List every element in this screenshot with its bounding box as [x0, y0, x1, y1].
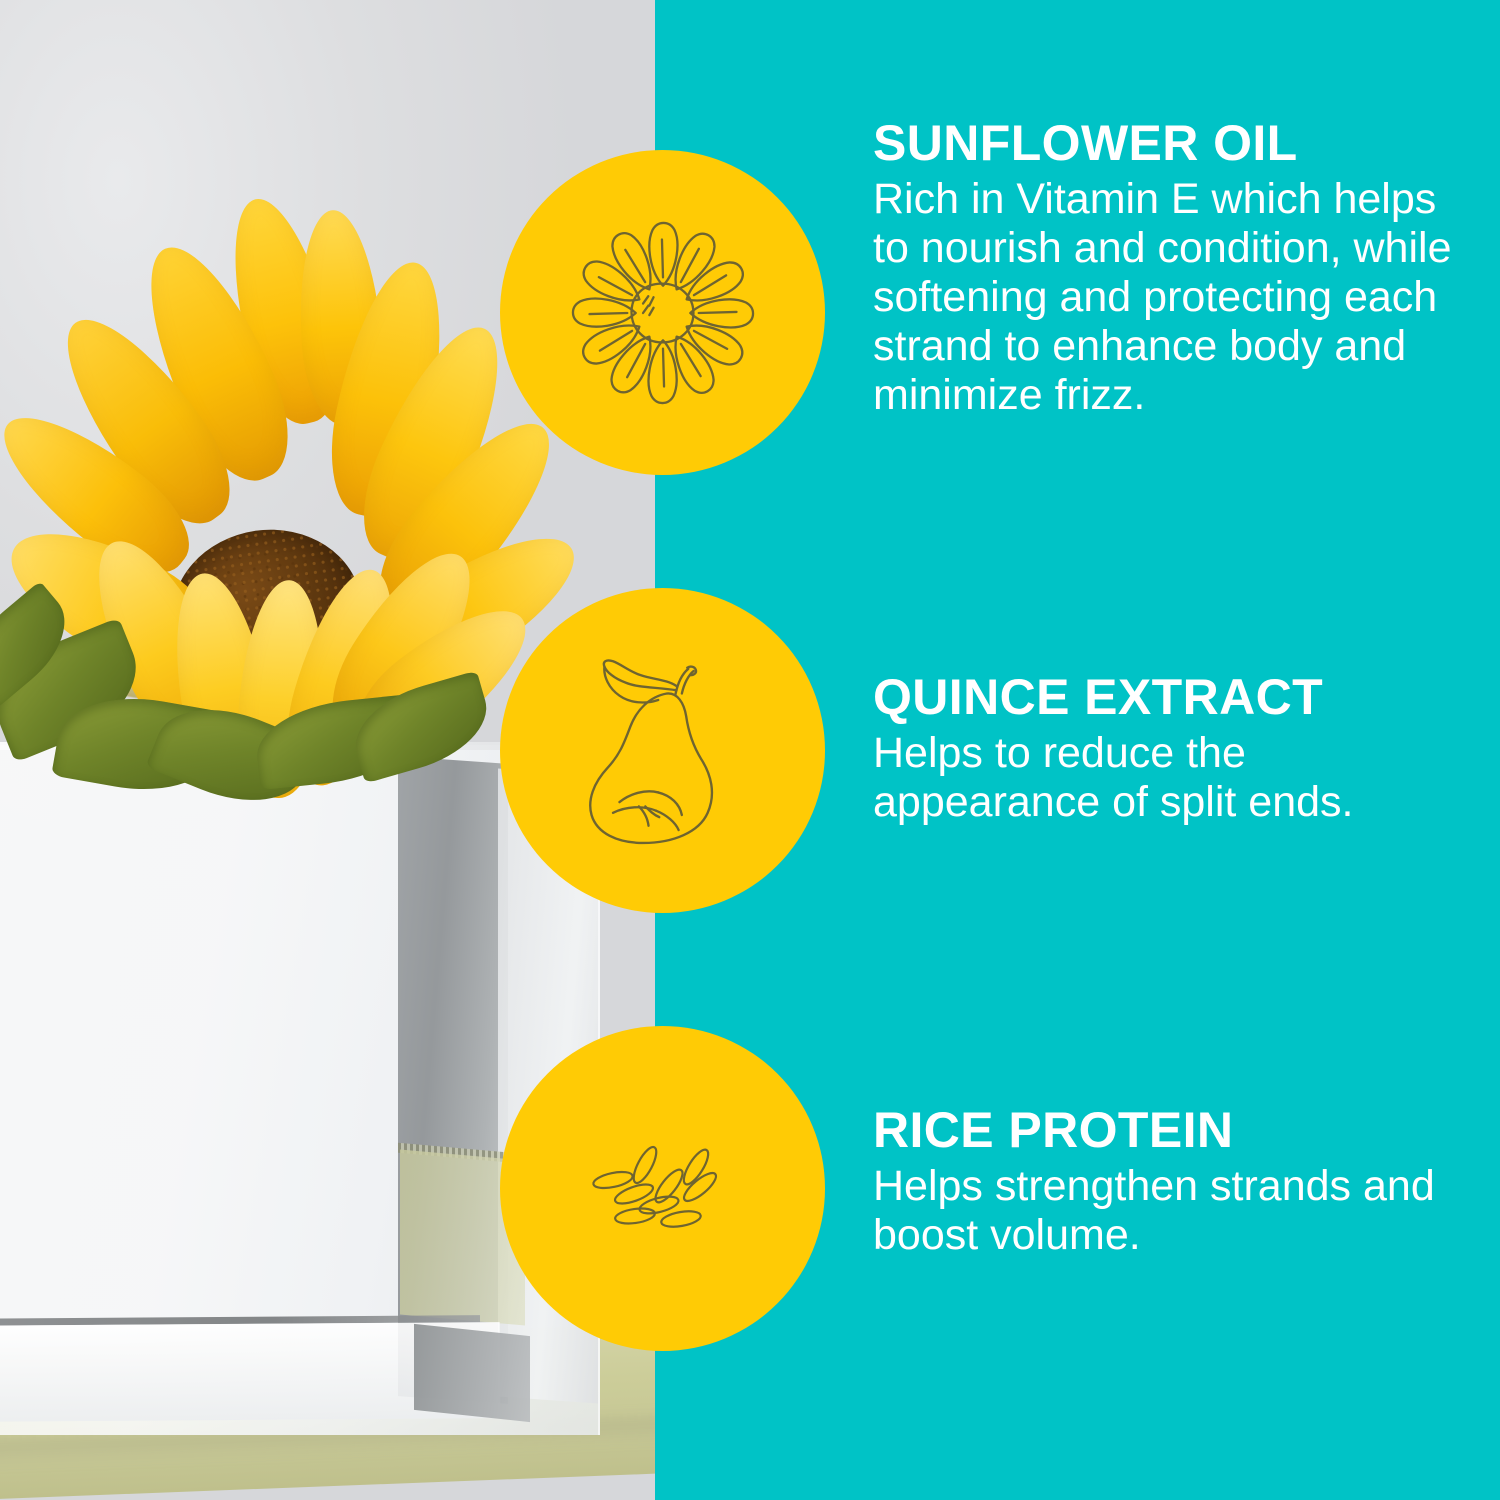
rice-grains-icon	[563, 1089, 763, 1289]
feature-block-quince-extract: QUINCE EXTRACT Helps to reduce the appea…	[873, 672, 1473, 827]
feature-body: Rich in Vitamin E which helps to nourish…	[873, 175, 1473, 420]
pear-icon	[555, 643, 770, 858]
pear-icon-badge	[500, 588, 825, 913]
feature-block-rice-protein: RICE PROTEIN Helps strengthen strands an…	[873, 1105, 1473, 1260]
feature-title: RICE PROTEIN	[873, 1105, 1473, 1156]
feature-body: Helps strengthen strands and boost volum…	[873, 1162, 1473, 1260]
feature-block-sunflower-oil: SUNFLOWER OIL Rich in Vitamin E which he…	[873, 118, 1473, 420]
feature-title: SUNFLOWER OIL	[873, 118, 1473, 169]
flower-icon-badge	[500, 150, 825, 475]
feature-title: QUINCE EXTRACT	[873, 672, 1473, 723]
ingredient-benefits-infographic: SUNFLOWER OIL Rich in Vitamin E which he…	[0, 0, 1500, 1500]
sunflower-photo-subject	[0, 200, 580, 810]
acrylic-block-base-shadow	[414, 1324, 530, 1422]
rice-grains-icon-badge	[500, 1026, 825, 1351]
feature-body: Helps to reduce the appearance of split …	[873, 729, 1473, 827]
flower-icon	[558, 208, 768, 418]
